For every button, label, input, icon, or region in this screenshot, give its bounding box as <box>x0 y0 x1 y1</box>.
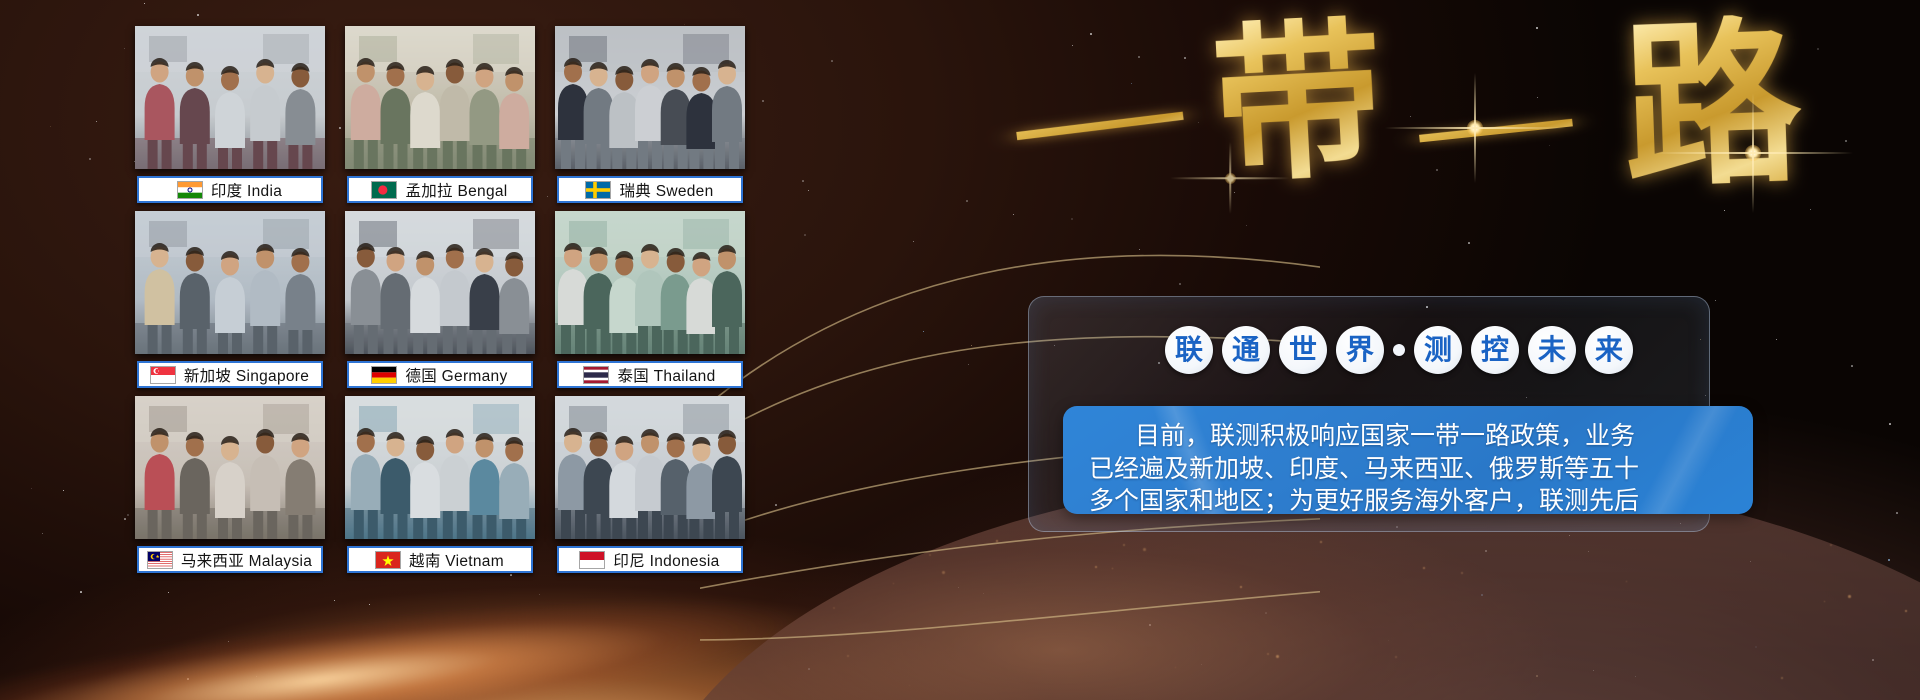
photo-caption: 新加坡 Singapore <box>137 361 323 388</box>
slogan-char: 来 <box>1595 336 1623 364</box>
photo-caption: 印度 India <box>137 176 323 203</box>
slogan-circle-8: 来 <box>1585 326 1633 374</box>
slogan-circle-3: 世 <box>1279 326 1327 374</box>
calligraphy-char-2: 带 <box>1209 14 1388 193</box>
photo-card[interactable]: 泰国 Thailand <box>555 211 745 396</box>
photo-grid: 印度 India孟加拉 Bengal瑞典 Sweden新加坡 Singapore… <box>135 26 745 581</box>
flag-singapore-icon <box>151 367 175 383</box>
photo-caption: 马来西亚 Malaysia <box>137 546 323 573</box>
photo-caption-label: 德国 Germany <box>405 364 507 386</box>
photo-image <box>135 26 325 169</box>
flag-india-icon <box>178 182 202 198</box>
flag-thailand-icon <box>584 367 608 383</box>
slogan-char: 联 <box>1175 336 1203 364</box>
photo-caption: 泰国 Thailand <box>557 361 743 388</box>
photo-card[interactable]: 新加坡 Singapore <box>135 211 325 396</box>
photo-card[interactable]: 德国 Germany <box>345 211 535 396</box>
photo-caption: 孟加拉 Bengal <box>347 176 533 203</box>
description-line: 已经遍及新加坡、印度、马来西亚、俄罗斯等五十 <box>1089 453 1727 486</box>
slogan-char: 世 <box>1289 336 1317 364</box>
slogan-circle-7: 未 <box>1528 326 1576 374</box>
photo-image <box>555 26 745 169</box>
photo-caption-label: 瑞典 Sweden <box>619 179 713 201</box>
photo-card[interactable]: 印尼 Indonesia <box>555 396 745 581</box>
flag-malaysia-icon <box>148 552 172 568</box>
photo-card[interactable]: 孟加拉 Bengal <box>345 26 535 211</box>
slogan-char: 测 <box>1424 336 1452 364</box>
photo-caption: 德国 Germany <box>347 361 533 388</box>
flag-bangladesh-icon <box>372 182 396 198</box>
slogan-char: 界 <box>1346 336 1374 364</box>
photo-card[interactable]: 马来西亚 Malaysia <box>135 396 325 581</box>
photo-image <box>135 396 325 539</box>
flag-vietnam-icon <box>376 552 400 568</box>
slogan-char: 通 <box>1232 336 1260 364</box>
slogan-circle-1: 联 <box>1165 326 1213 374</box>
photo-card[interactable]: 越南 Vietnam <box>345 396 535 581</box>
description-box: 目前，联测积极响应国家一带一路政策，业务 已经遍及新加坡、印度、马来西亚、俄罗斯… <box>1063 406 1753 514</box>
slogan-circle-2: 通 <box>1222 326 1270 374</box>
slogan-circle-6: 控 <box>1471 326 1519 374</box>
photo-image <box>345 211 535 354</box>
photo-image <box>345 396 535 539</box>
photo-caption-label: 印度 India <box>211 179 282 201</box>
slogan-char: 控 <box>1481 336 1509 364</box>
calligraphy-char-1: 一 <box>1008 82 1193 176</box>
description-line: 目前，联测积极响应国家一带一路政策，业务 <box>1089 420 1727 453</box>
photo-caption-label: 新加坡 Singapore <box>184 364 309 386</box>
photo-image <box>345 26 535 169</box>
photo-caption-label: 泰国 Thailand <box>617 364 715 386</box>
photo-caption: 印尼 Indonesia <box>557 546 743 573</box>
photo-caption-label: 孟加拉 Bengal <box>405 179 507 201</box>
photo-caption-label: 马来西亚 Malaysia <box>181 549 312 571</box>
slogan-separator-dot <box>1393 344 1405 356</box>
photo-card[interactable]: 印度 India <box>135 26 325 211</box>
photo-image <box>135 211 325 354</box>
flag-germany-icon <box>372 367 396 383</box>
photo-caption-label: 越南 Vietnam <box>409 549 504 571</box>
flag-sweden-icon <box>586 182 610 198</box>
photo-image <box>555 396 745 539</box>
photo-caption: 越南 Vietnam <box>347 546 533 573</box>
calligraphy-char-3: 一 <box>1412 92 1581 176</box>
slogan-char: 未 <box>1538 336 1566 364</box>
calligraphy-title: 一 带 一 路 <box>1035 8 1895 198</box>
banner-root: 一 带 一 路 联 通 世 界 测 控 未 来 目前，联测积极响应国家一带一路政… <box>0 0 1920 700</box>
slogan-row: 联 通 世 界 测 控 未 来 <box>1165 326 1633 374</box>
description-line: 多个国家和地区；为更好服务海外客户，联测先后 <box>1089 485 1727 514</box>
photo-card[interactable]: 瑞典 Sweden <box>555 26 745 211</box>
photo-caption-label: 印尼 Indonesia <box>613 549 719 571</box>
calligraphy-char-4: 路 <box>1620 13 1804 197</box>
flag-indonesia-icon <box>580 552 604 568</box>
slogan-circle-5: 测 <box>1414 326 1462 374</box>
photo-caption: 瑞典 Sweden <box>557 176 743 203</box>
slogan-circle-4: 界 <box>1336 326 1384 374</box>
photo-image <box>555 211 745 354</box>
